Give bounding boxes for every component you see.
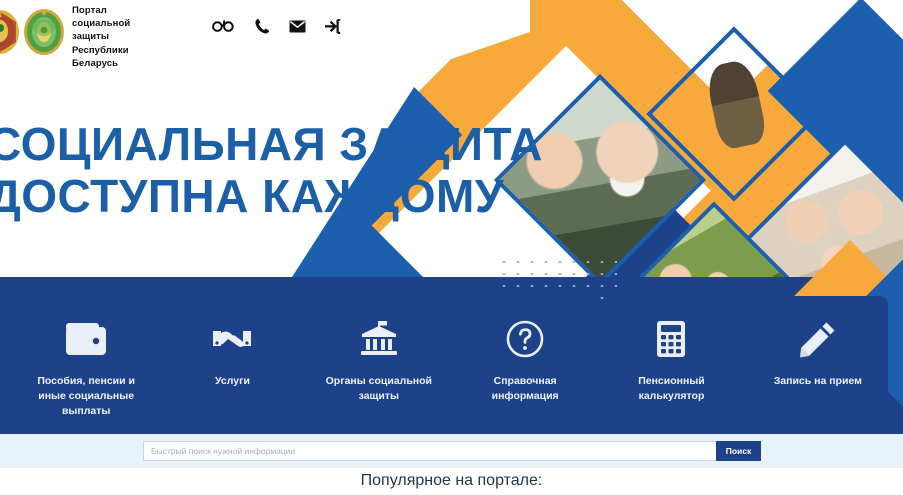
glasses-icon[interactable] [212, 19, 236, 33]
envelope-icon[interactable] [289, 20, 306, 33]
handshake-icon [210, 318, 254, 360]
portal-title: Портал социальной защиты Республики Бела… [72, 4, 130, 70]
dot-grid-pattern [497, 256, 617, 300]
search-input[interactable] [143, 441, 716, 461]
popular-section-title: Популярное на портале: [0, 472, 903, 490]
card-label: Пособия, пенсии и иные социальные выплат… [16, 374, 156, 419]
question-circle-icon [506, 318, 544, 360]
coat-of-arms-belarus-icon [0, 4, 22, 58]
hero-heading: СОЦИАЛЬНАЯ ЗАЩИТА ДОСТУПНА КАЖДОМУ [0, 118, 543, 222]
card-pension-calculator[interactable]: Пенсионный калькулятор [601, 296, 741, 430]
page-root: Портал социальной защиты Республики Бела… [0, 0, 903, 495]
portal-title-line-1: Портал [72, 4, 130, 17]
government-building-icon [359, 318, 399, 360]
ministry-labour-emblem-icon [22, 4, 66, 58]
card-benefits-pensions[interactable]: Пособия, пенсии и иные социальные выплат… [16, 296, 156, 430]
card-appointment-booking[interactable]: Запись на прием [748, 296, 888, 430]
header-icon-bar [212, 18, 341, 34]
portal-title-line-4: Республики [72, 44, 130, 57]
hero-heading-line-1: СОЦИАЛЬНАЯ ЗАЩИТА [0, 118, 543, 170]
card-label: Органы социальной защиты [309, 374, 449, 404]
card-label: Услуги [206, 374, 259, 389]
wallet-icon [65, 318, 107, 360]
site-header: Портал социальной защиты Республики Бела… [0, 0, 903, 72]
pencil-icon [799, 318, 837, 360]
phone-icon[interactable] [255, 18, 270, 34]
search-bar: Поиск [143, 441, 761, 461]
emblem-group [0, 4, 66, 58]
search-button[interactable]: Поиск [716, 441, 761, 461]
quick-links-cards: Пособия, пенсии и иные социальные выплат… [16, 296, 888, 430]
portal-title-line-3: защиты [72, 30, 130, 43]
portal-title-line-2: социальной [72, 17, 130, 30]
login-icon[interactable] [325, 19, 341, 34]
card-services[interactable]: Услуги [162, 296, 302, 430]
card-label: Справочная информация [455, 374, 595, 404]
card-reference-information[interactable]: Справочная информация [455, 296, 595, 430]
portal-title-line-5: Беларусь [72, 57, 130, 70]
card-social-protection-bodies[interactable]: Органы социальной защиты [309, 296, 449, 430]
calculator-icon [656, 318, 686, 360]
hero-heading-line-2: ДОСТУПНА КАЖДОМУ [0, 170, 543, 222]
card-label: Пенсионный калькулятор [601, 374, 741, 404]
card-label: Запись на прием [765, 374, 871, 389]
